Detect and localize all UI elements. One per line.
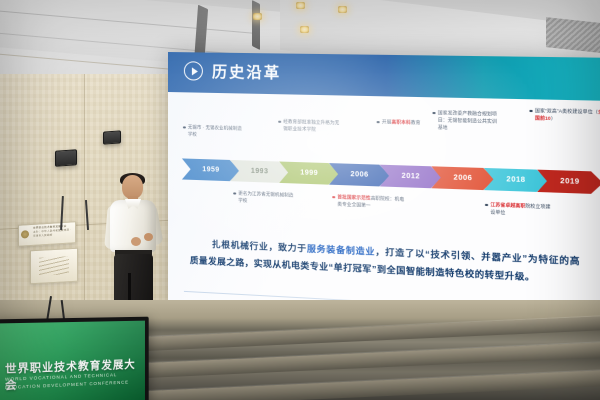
wall-plaque: 世界职业技术教育发展大会 主办：中华人民共和国教育部 · 天津市人民政府 bbox=[18, 221, 76, 247]
ceiling-downlight bbox=[296, 2, 305, 9]
timeline-note: 国家“双高”A类校建设单位（全国前10） bbox=[535, 108, 600, 124]
timeline-arrow: 2006 bbox=[431, 166, 495, 190]
presenter-hand-right bbox=[144, 233, 153, 241]
wall-speaker bbox=[103, 130, 121, 144]
timeline-arrow-track: 1959 1993 1999 2006 2012 2006 2018 2019 bbox=[182, 158, 589, 194]
wall-speaker bbox=[55, 149, 77, 167]
presentation-slide: 历史沿革 1959 1993 1999 2006 2012 bbox=[168, 52, 600, 332]
ceiling-downlight bbox=[300, 26, 309, 33]
timeline-note: 国家发改委产教融合规划项目：无锡智能制造公共实训基地 bbox=[438, 110, 502, 133]
timeline-arrow: 2006 bbox=[329, 163, 390, 187]
ceiling-vent bbox=[546, 17, 600, 53]
plaque-emblem bbox=[21, 230, 29, 238]
body-line1-pre: 扎根机械行业，致力于 bbox=[212, 239, 307, 254]
presenter-hand-left bbox=[131, 237, 141, 246]
timeline-arrow: 1999 bbox=[279, 162, 339, 186]
slide-body-text: 扎根机械行业，致力于服务装备制造业，打造了以“技术引领、并嚣产业”为特征的高质量… bbox=[190, 235, 580, 288]
timeline-note: 无锡市 · 无锡农业机械制造学校 bbox=[188, 125, 246, 140]
timeline-note: 开展高职本科教育 bbox=[382, 119, 444, 128]
plaque-calligraphy bbox=[39, 256, 69, 276]
timeline-arrow: 2018 bbox=[484, 168, 549, 192]
timeline-note: 经教育部批准独立升格为无锡职业技术学院 bbox=[283, 119, 343, 135]
body-line3: 到全国智能制造特色校的转型升级。 bbox=[377, 264, 535, 282]
conference-hall-photo: 世界职业技术教育发展大会 主办：中华人民共和国教育部 · 天津市人民政府 历史沿… bbox=[0, 0, 600, 400]
timeline-arrow: 1993 bbox=[230, 160, 289, 183]
body-line1-post: ，打造了以“技术引领、 bbox=[375, 246, 481, 261]
podium-banner: 世界职业技术教育发展大会 WORLD VOCATIONAL AND TECHNI… bbox=[0, 317, 149, 400]
timeline-note: 江苏省卓越高职院校立项建设单位 bbox=[490, 202, 555, 219]
play-circle-icon bbox=[184, 61, 203, 80]
ceiling-downlight bbox=[338, 6, 347, 13]
timeline: 1959 1993 1999 2006 2012 2006 2018 2019 bbox=[176, 96, 596, 240]
timeline-note: 更名为江苏省无锡机械制造学校 bbox=[238, 191, 298, 207]
ceiling-downlight bbox=[253, 13, 262, 20]
projection-screen: 历史沿革 1959 1993 1999 2006 2012 bbox=[168, 52, 600, 332]
plaque-subtitle: 主办：中华人民共和国教育部 · 天津市人民政府 bbox=[33, 228, 72, 238]
slide-title: 历史沿革 bbox=[212, 61, 281, 83]
body-line1-emphasis: 服务装备制造业 bbox=[307, 243, 375, 256]
presenter bbox=[104, 175, 166, 310]
wall-plaque-secondary bbox=[30, 248, 78, 285]
timeline-arrow: 2019 bbox=[537, 170, 600, 195]
timeline-note: 首批国家示范性高职院校：机电类专业全国第一 bbox=[337, 194, 407, 211]
timeline-arrow: 2012 bbox=[380, 165, 442, 189]
timeline-arrow: 1959 bbox=[182, 158, 240, 181]
